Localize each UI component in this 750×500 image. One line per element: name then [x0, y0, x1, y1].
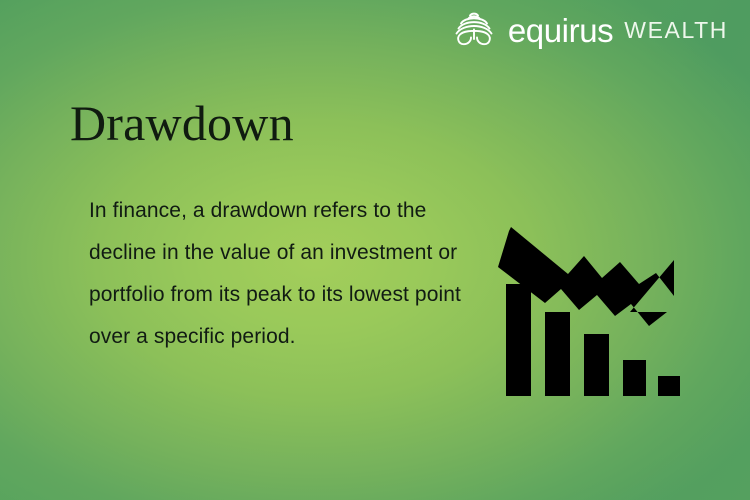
chart-bars	[506, 284, 680, 396]
drawdown-infographic-card: equirus WEALTH Drawdown In finance, a dr…	[0, 0, 750, 500]
equirus-tree-emblem-icon	[451, 9, 497, 51]
logo-wordmark: equirus	[508, 14, 613, 47]
definition-paragraph: In finance, a drawdown refers to the dec…	[89, 190, 489, 358]
declining-bar-chart-icon	[498, 226, 680, 402]
page-title: Drawdown	[70, 95, 294, 151]
logo-subword: WEALTH	[624, 19, 728, 42]
equirus-wealth-logo: equirus WEALTH	[451, 9, 728, 51]
